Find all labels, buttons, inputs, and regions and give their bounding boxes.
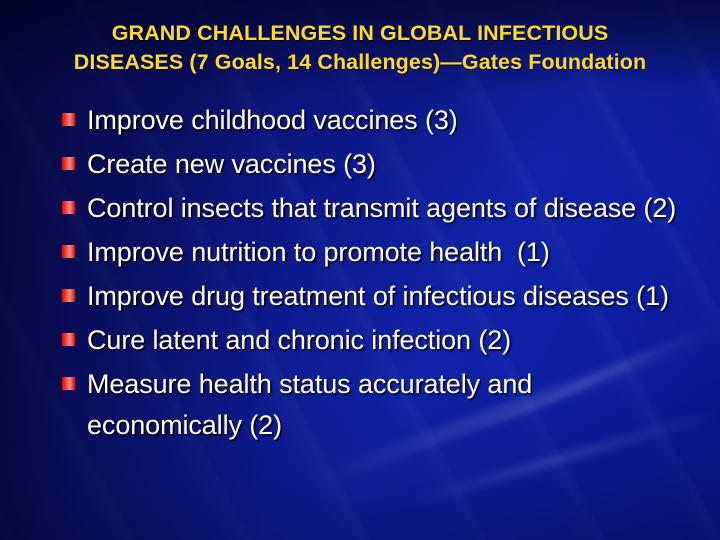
square-bullet-icon xyxy=(62,201,75,214)
list-item-label: Cure latent and chronic infection (2) xyxy=(87,320,511,361)
square-bullet-icon xyxy=(62,113,75,126)
list-item-label: Measure health status accurately and eco… xyxy=(87,364,678,446)
bullet-list: Improve childhood vaccines (3) Create ne… xyxy=(62,100,678,449)
list-item: Improve childhood vaccines (3) xyxy=(62,100,678,141)
list-item: Improve nutrition to promote health (1) xyxy=(62,232,678,273)
square-bullet-icon xyxy=(62,289,75,302)
list-item: Create new vaccines (3) xyxy=(62,144,678,185)
list-item-label: Improve drug treatment of infectious dis… xyxy=(87,276,669,317)
list-item: Cure latent and chronic infection (2) xyxy=(62,320,678,361)
square-bullet-icon xyxy=(62,333,75,346)
slide-title: GRAND CHALLENGES IN GLOBAL INFECTIOUS DI… xyxy=(0,19,720,77)
square-bullet-icon xyxy=(62,245,75,258)
slide-title-line-2: DISEASES (7 Goals, 14 Challenges)—Gates … xyxy=(0,48,720,77)
list-item: Improve drug treatment of infectious dis… xyxy=(62,276,678,317)
list-item-label: Improve childhood vaccines (3) xyxy=(87,100,458,141)
square-bullet-icon xyxy=(62,377,75,390)
list-item-label: Control insects that transmit agents of … xyxy=(87,188,676,229)
square-bullet-icon xyxy=(62,157,75,170)
slide-title-line-1: GRAND CHALLENGES IN GLOBAL INFECTIOUS xyxy=(0,19,720,48)
list-item-label: Create new vaccines (3) xyxy=(87,144,376,185)
list-item-label: Improve nutrition to promote health (1) xyxy=(87,232,550,273)
list-item: Control insects that transmit agents of … xyxy=(62,188,678,229)
presentation-slide: GRAND CHALLENGES IN GLOBAL INFECTIOUS DI… xyxy=(0,0,720,540)
list-item: Measure health status accurately and eco… xyxy=(62,364,678,446)
